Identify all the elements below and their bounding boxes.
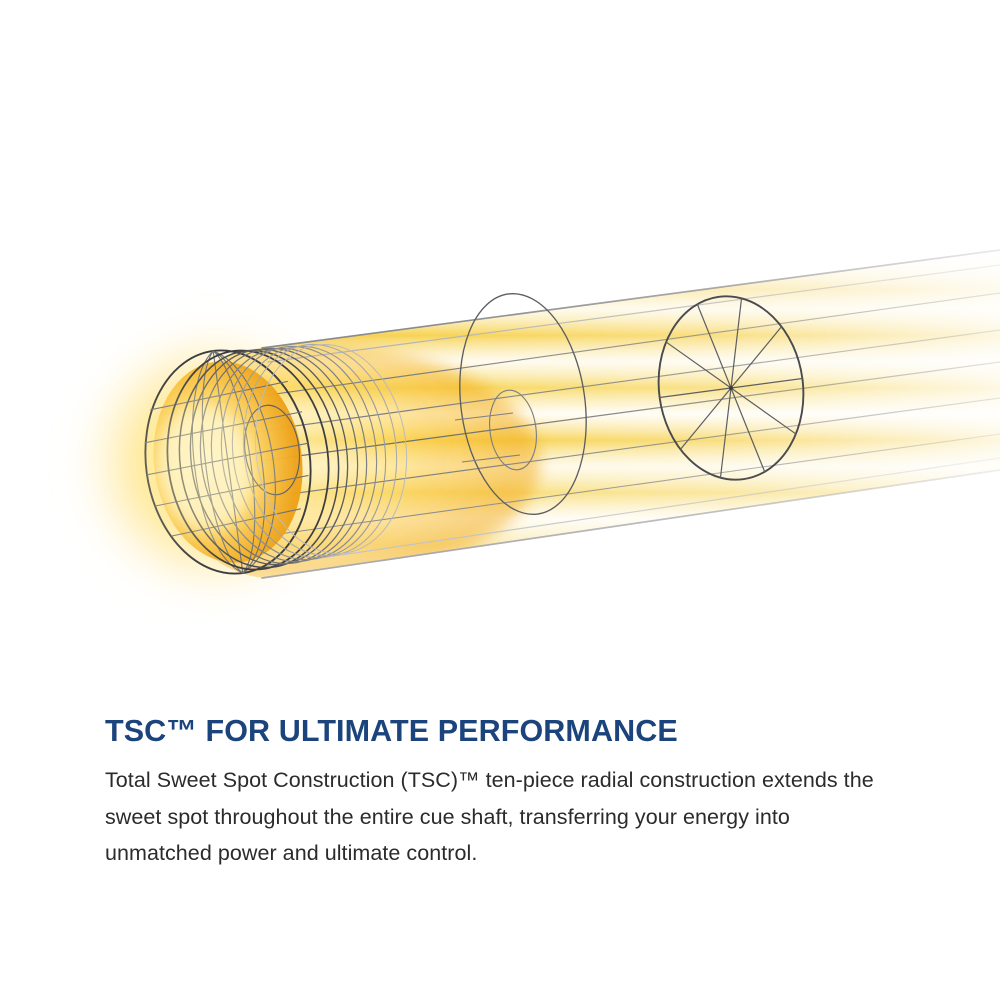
description-text: Total Sweet Spot Construction (TSC)™ ten…: [105, 750, 895, 872]
feature-panel: TSC™ FOR ULTIMATE PERFORMANCE Total Swee…: [0, 0, 1000, 1000]
cue-shaft-illustration: [0, 0, 1000, 690]
caption-block: TSC™ FOR ULTIMATE PERFORMANCE Total Swee…: [105, 712, 905, 872]
page-title: TSC™ FOR ULTIMATE PERFORMANCE: [105, 712, 905, 750]
tip-glow-wash: [144, 392, 268, 540]
